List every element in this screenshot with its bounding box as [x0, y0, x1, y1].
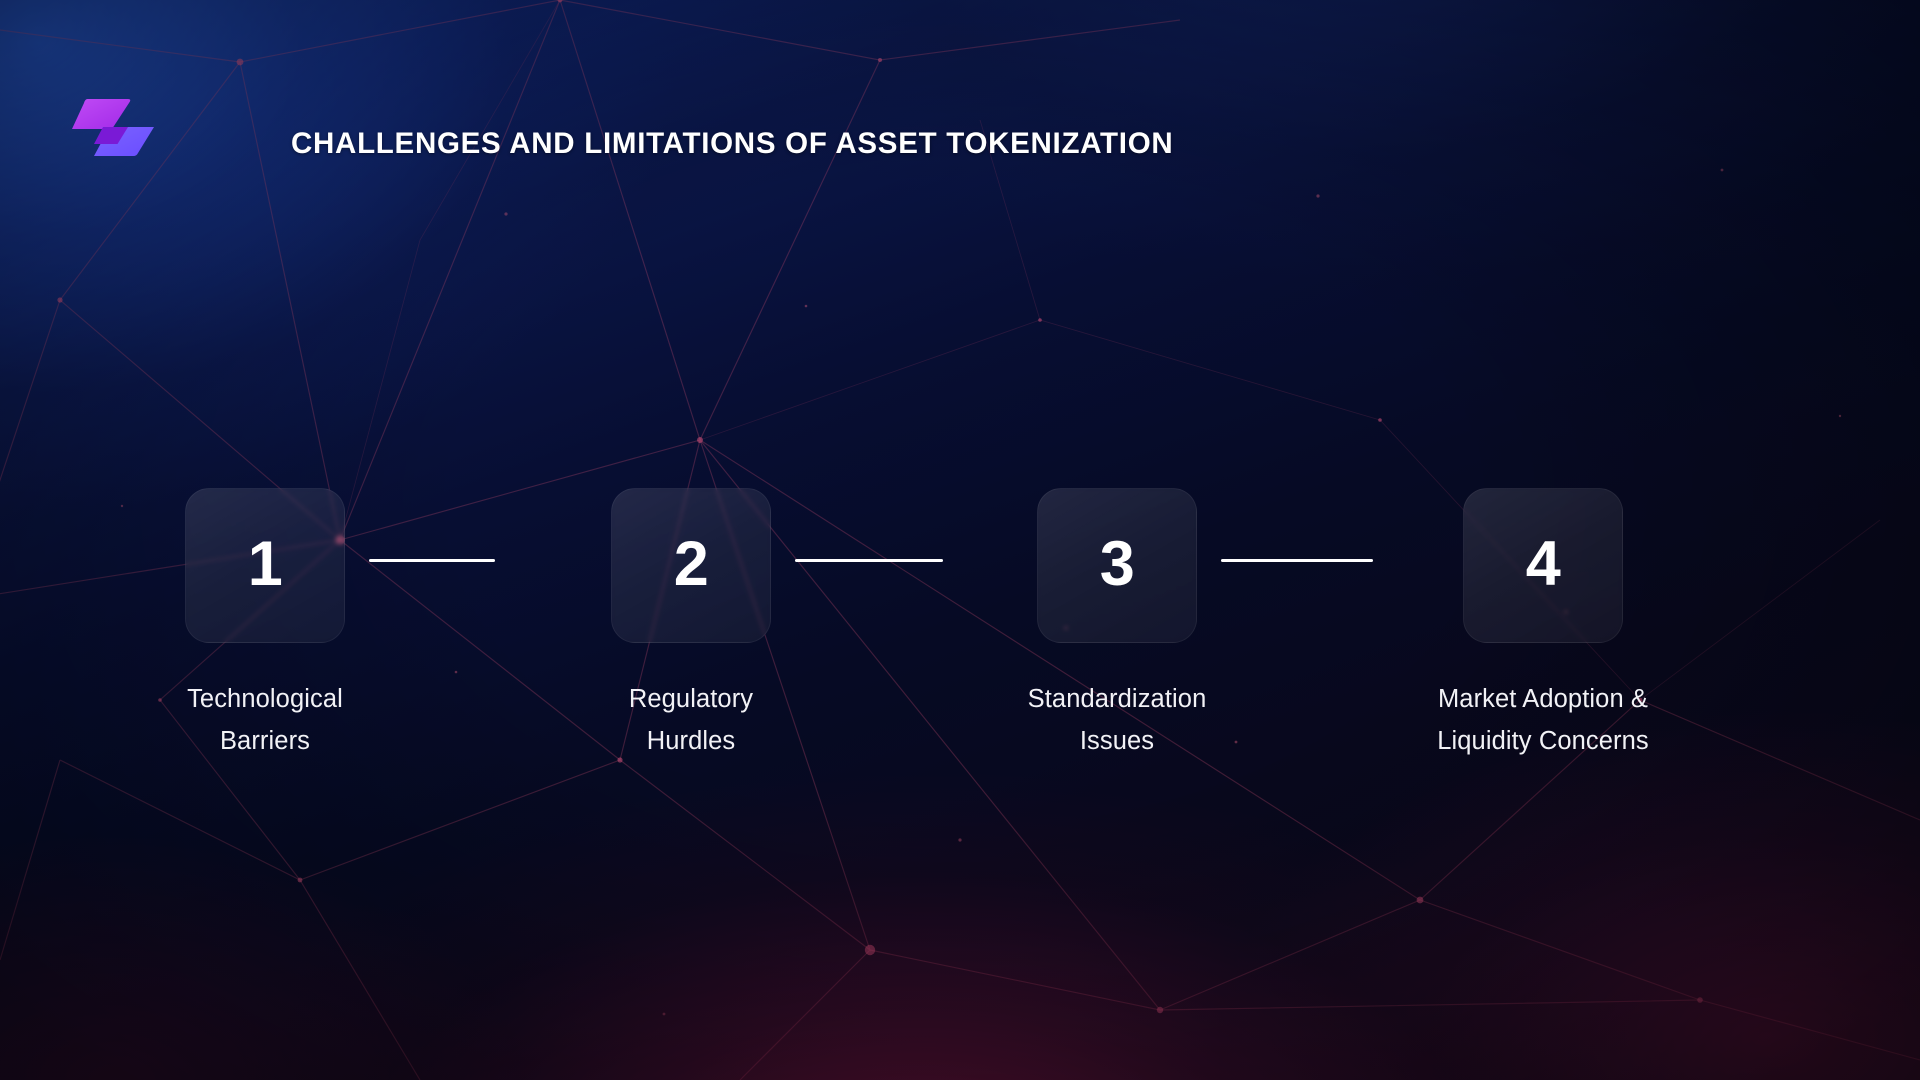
step-item-4[interactable]: 4 Market Adoption & Liquidity Concerns: [1413, 488, 1673, 762]
step-card-2[interactable]: 2: [611, 488, 771, 643]
steps-row: 1 Technological Barriers 2 Regulatory Hu…: [155, 488, 1765, 768]
step-number-4: 4: [1526, 533, 1561, 596]
step-label-1: Technological Barriers: [187, 678, 343, 762]
step-label-4: Market Adoption & Liquidity Concerns: [1437, 678, 1649, 762]
step-number-3: 3: [1100, 533, 1135, 596]
step-number-2: 2: [674, 533, 709, 596]
step-label-3: Standardization Issues: [1028, 678, 1207, 762]
page-title: CHALLENGES AND LIMITATIONS OF ASSET TOKE…: [291, 126, 1391, 162]
step-label-2: Regulatory Hurdles: [629, 678, 753, 762]
step-number-1: 1: [248, 533, 283, 596]
step-item-1[interactable]: 1 Technological Barriers: [135, 488, 395, 762]
step-item-2[interactable]: 2 Regulatory Hurdles: [561, 488, 821, 762]
brand-chevron-logo-icon[interactable]: [70, 97, 156, 159]
step-card-1[interactable]: 1: [185, 488, 345, 643]
step-card-4[interactable]: 4: [1463, 488, 1623, 643]
slide-canvas: CHALLENGES AND LIMITATIONS OF ASSET TOKE…: [0, 0, 1920, 1080]
step-card-3[interactable]: 3: [1037, 488, 1197, 643]
step-item-3[interactable]: 3 Standardization Issues: [987, 488, 1247, 762]
